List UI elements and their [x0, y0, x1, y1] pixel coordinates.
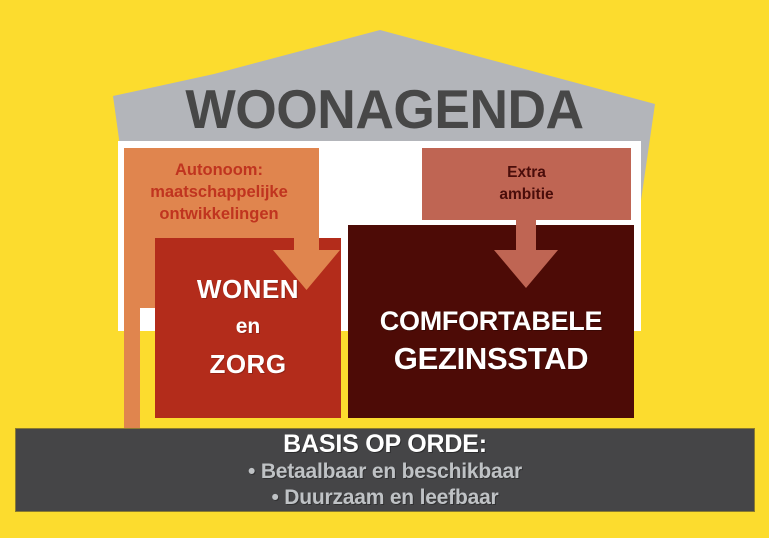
basis-item-1: • Betaalbaar en beschikbaar — [248, 459, 522, 485]
wonen-en-zorg-box: WONEN en ZORG — [155, 238, 341, 418]
woonagenda-infographic: WOONAGENDA Autonoom: maatschappelijke on… — [0, 0, 769, 538]
autonoom-line-1: Autonoom: — [175, 159, 263, 181]
wonen-line-2: en — [236, 309, 261, 345]
extra-ambitie-line-2: ambitie — [499, 184, 553, 206]
extra-ambitie-box: Extra ambitie — [422, 148, 631, 220]
gezinsstad-line-2: GEZINSSTAD — [394, 339, 589, 379]
comfortabele-gezinsstad-box: COMFORTABELE GEZINSSTAD — [348, 225, 634, 418]
basis-op-orde-band: BASIS OP ORDE: • Betaalbaar en beschikba… — [15, 428, 755, 512]
extra-ambitie-line-1: Extra — [507, 162, 546, 184]
wonen-line-1: WONEN — [197, 269, 299, 309]
basis-title: BASIS OP ORDE: — [283, 430, 487, 459]
wonen-line-3: ZORG — [209, 345, 286, 383]
autonoom-line-2: maatschappelijke — [150, 181, 288, 203]
basis-item-2: • Duurzaam en leefbaar — [271, 485, 498, 511]
autonoom-line-3: ontwikkelingen — [159, 203, 278, 225]
page-title: WOONAGENDA — [12, 79, 758, 139]
gezinsstad-line-1: COMFORTABELE — [380, 303, 602, 339]
